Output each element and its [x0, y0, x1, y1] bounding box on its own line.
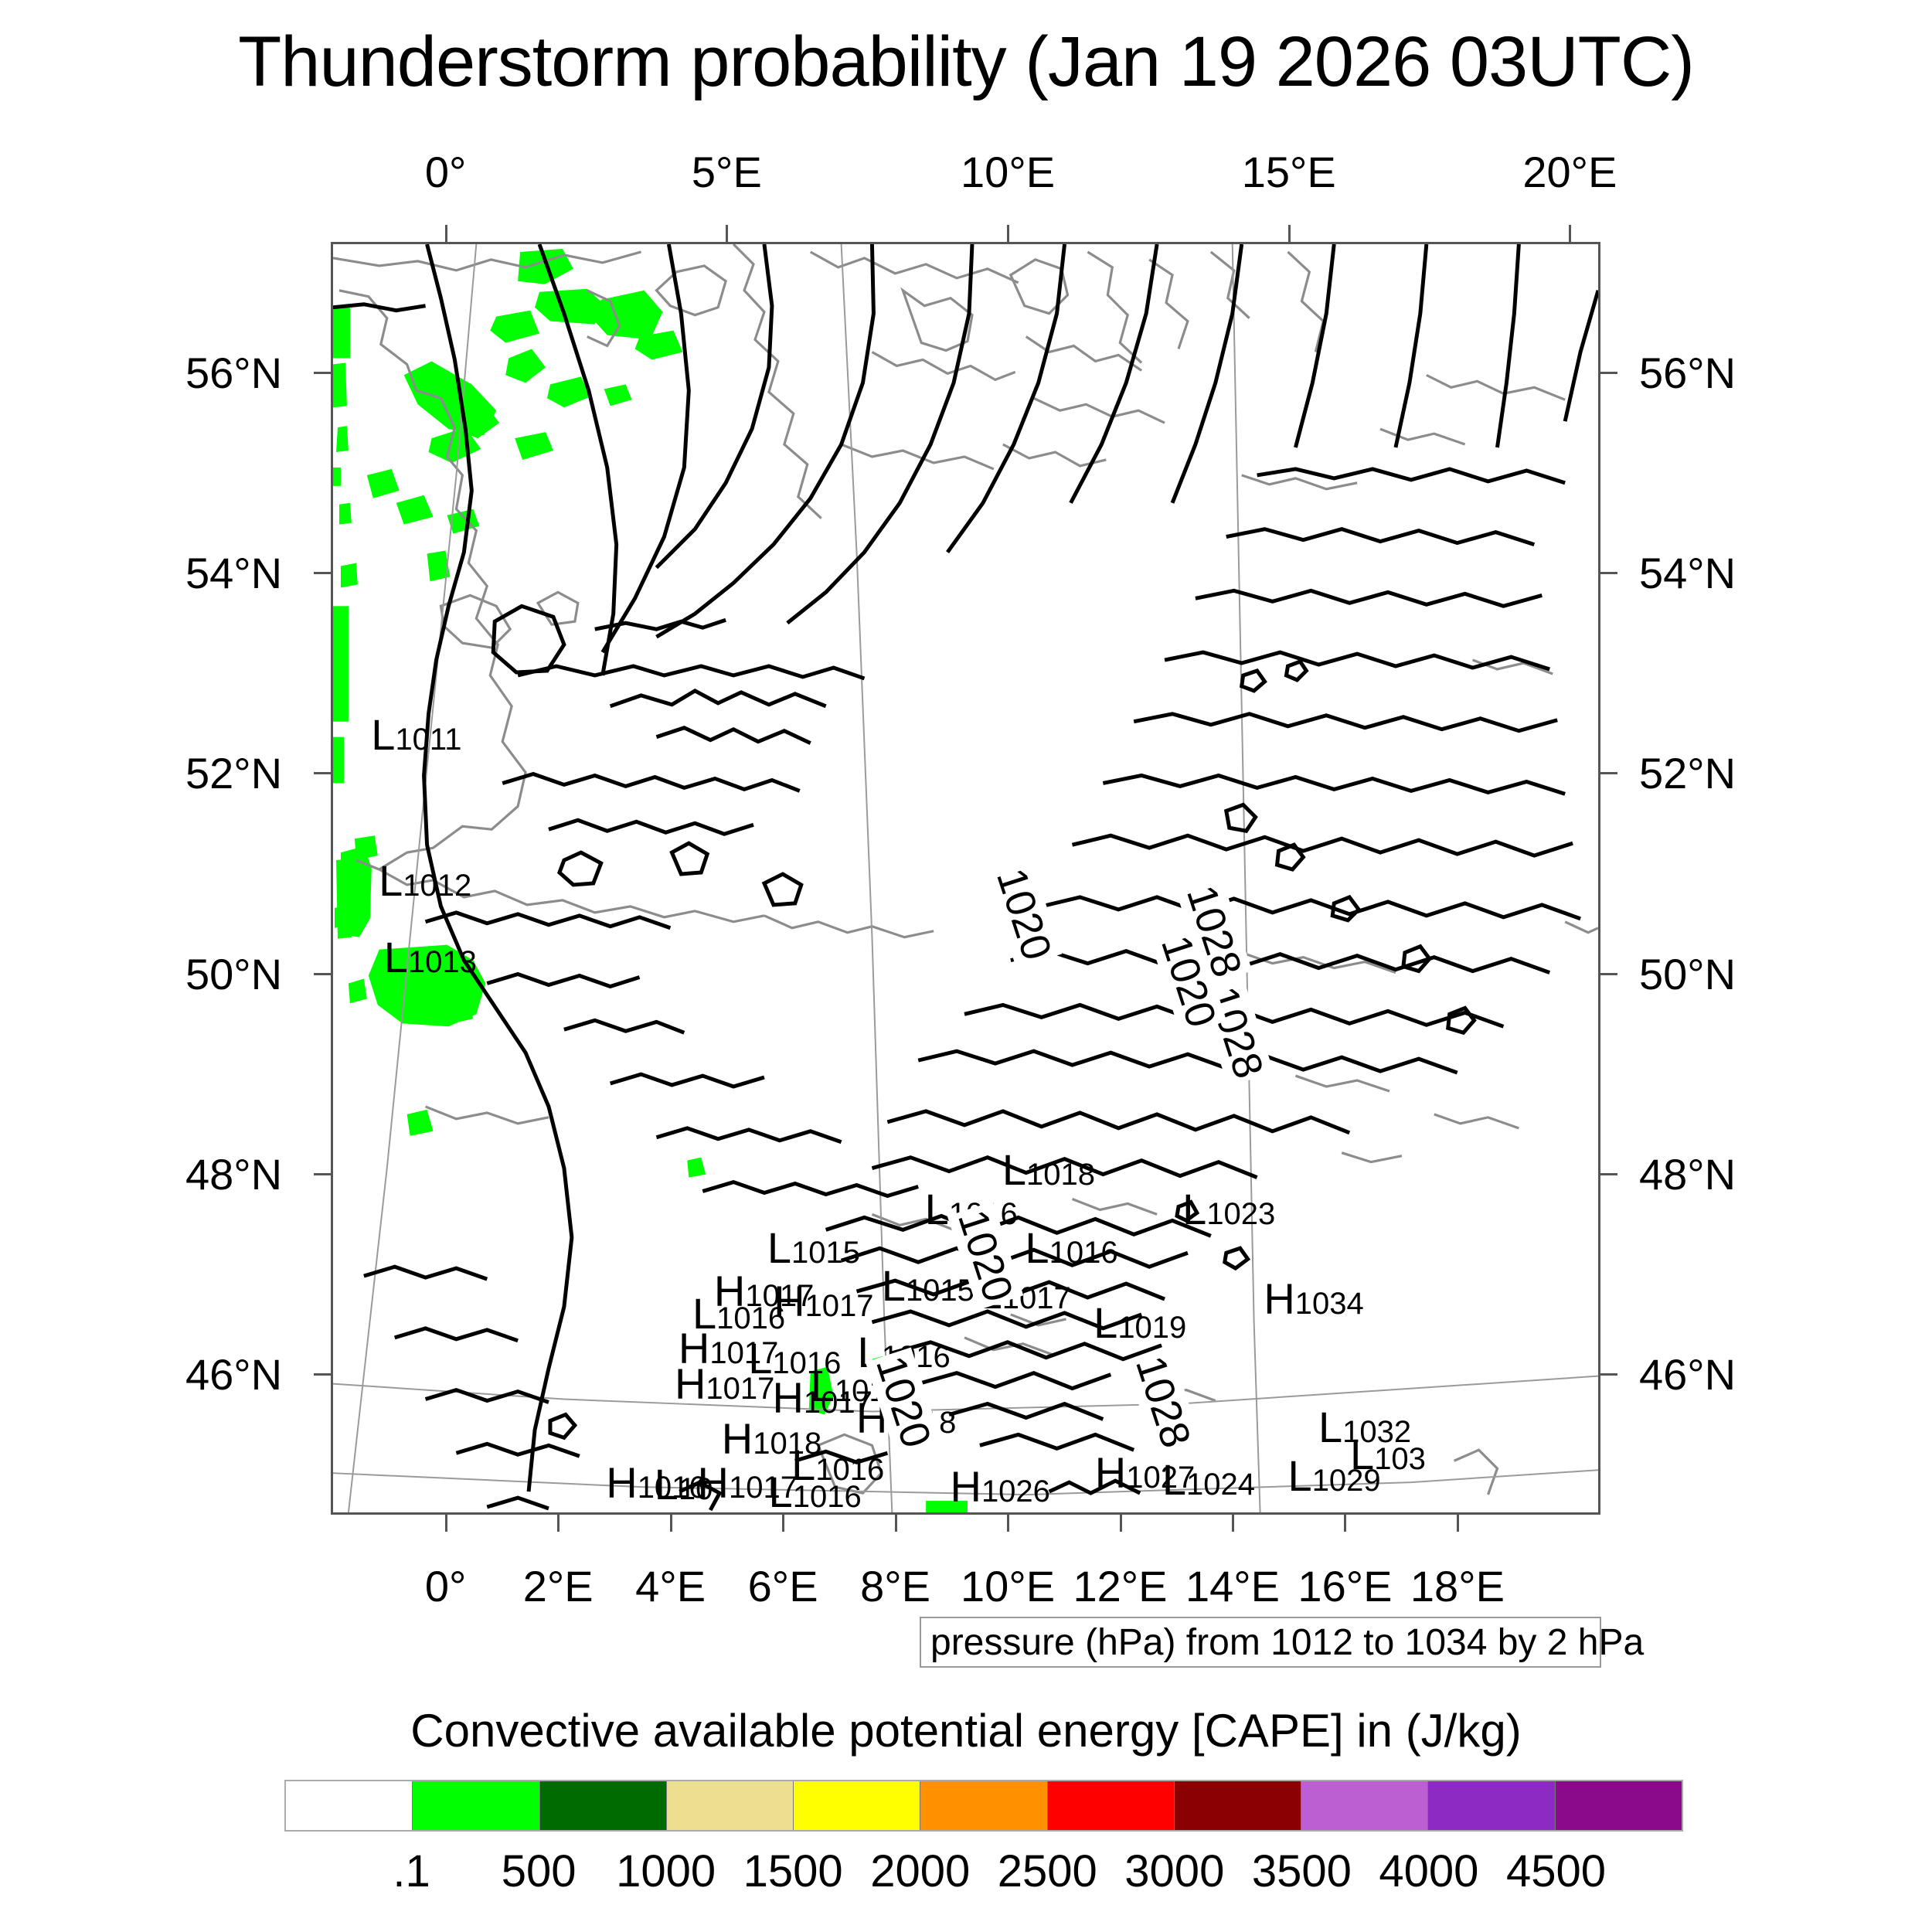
- pressure-center-l-label: L1013: [384, 936, 477, 979]
- axis-left-tick: [314, 372, 331, 374]
- pressure-legend-box: pressure (hPa) from 1012 to 1034 by 2 hP…: [920, 1617, 1601, 1668]
- axis-right-tick-label: 50°N: [1639, 949, 1736, 999]
- axis-right-tick: [1600, 772, 1617, 774]
- colorbar-segment: [1427, 1781, 1554, 1830]
- pressure-legend-text: pressure (hPa) from 1012 to 1034 by 2 hP…: [930, 1621, 1644, 1664]
- colorbar-segment: [920, 1781, 1046, 1830]
- axis-left-tick-label: 48°N: [185, 1149, 282, 1199]
- axis-top-tick-label: 5°E: [692, 147, 762, 197]
- axis-bottom-tick: [782, 1515, 784, 1532]
- axis-top-tick: [1569, 225, 1571, 242]
- axis-top-tick-label: 0°: [425, 147, 467, 197]
- axis-bottom-tick-label: 16°E: [1298, 1561, 1392, 1611]
- axis-left-tick: [314, 1373, 331, 1376]
- pressure-center-h-label: H1034: [1264, 1277, 1363, 1321]
- axis-right-tick-label: 54°N: [1639, 548, 1736, 598]
- pressure-center-l-label: L1029: [1288, 1454, 1381, 1498]
- axis-top-tick-label: 15°E: [1242, 147, 1336, 197]
- axis-right-tick-label: 56°N: [1639, 348, 1736, 398]
- axis-bottom-tick-label: 4°E: [635, 1561, 706, 1611]
- colorbar-tick-label: 4500: [1506, 1845, 1606, 1897]
- axis-bottom-tick: [895, 1515, 897, 1532]
- axis-bottom-tick: [1232, 1515, 1234, 1532]
- colorbar-segment: [1174, 1781, 1301, 1830]
- pressure-center-h-label: H1017: [675, 1362, 774, 1406]
- axis-right-tick: [1600, 372, 1617, 374]
- axis-bottom-tick-label: 2°E: [523, 1561, 594, 1611]
- graticule-layer: [333, 244, 1598, 1512]
- axis-bottom-tick: [1120, 1515, 1122, 1532]
- axis-top-tick-label: 10°E: [961, 147, 1055, 197]
- axis-top-tick: [1007, 225, 1009, 242]
- axis-bottom-tick-label: 10°E: [961, 1561, 1055, 1611]
- colorbar-tick-label: 2000: [870, 1845, 970, 1897]
- axis-left-tick-label: 46°N: [185, 1349, 282, 1400]
- axis-right-tick: [1600, 572, 1617, 574]
- colorbar-segment: [1555, 1781, 1682, 1830]
- axis-left-tick: [314, 772, 331, 774]
- axis-bottom-tick-label: 0°: [425, 1561, 467, 1611]
- axis-right-tick: [1600, 973, 1617, 975]
- map-canvas: [333, 244, 1598, 1512]
- pressure-center-l-label: L1016: [1025, 1226, 1117, 1270]
- colorbar-tick-label: .1: [393, 1845, 430, 1897]
- axis-top-tick: [726, 225, 728, 242]
- axis-right-tick-label: 48°N: [1639, 1149, 1736, 1199]
- map-plot-area: L1011L1012L1013L1018L1016L1016L1023L1015…: [331, 242, 1600, 1515]
- axis-bottom-tick: [445, 1515, 447, 1532]
- colorbar-tick-label: 1500: [743, 1845, 843, 1897]
- pressure-center-l-label: L1016: [769, 1471, 862, 1514]
- axis-bottom-tick-label: 8°E: [860, 1561, 930, 1611]
- axis-top-tick: [1288, 225, 1291, 242]
- colorbar-segment: [793, 1781, 920, 1830]
- axis-left-tick: [314, 572, 331, 574]
- axis-right-tick: [1600, 1373, 1617, 1376]
- axis-bottom-tick-label: 14°E: [1185, 1561, 1280, 1611]
- pressure-center-l-label: L1012: [379, 859, 471, 903]
- colorbar-title: Convective available potential energy [C…: [0, 1704, 1932, 1757]
- axis-left-tick-label: 50°N: [185, 949, 282, 999]
- colorbar-segment: [412, 1781, 539, 1830]
- axis-bottom-tick-label: 18°E: [1410, 1561, 1505, 1611]
- axis-left-tick-label: 54°N: [185, 548, 282, 598]
- pressure-center-l-label: L1015: [882, 1264, 975, 1308]
- axis-bottom-tick: [1457, 1515, 1459, 1532]
- axis-top-tick: [445, 225, 447, 242]
- colorbar-tick-label: 3000: [1124, 1845, 1224, 1897]
- axis-right-tick: [1600, 1173, 1617, 1175]
- axis-left-tick-label: 52°N: [185, 748, 282, 798]
- colorbar-segment: [539, 1781, 666, 1830]
- colorbar-tick-label: 500: [502, 1845, 577, 1897]
- pressure-center-l-label: L1018: [1002, 1148, 1095, 1192]
- axis-right-tick-label: 46°N: [1639, 1349, 1736, 1400]
- axis-bottom-tick: [557, 1515, 560, 1532]
- axis-left-tick: [314, 1173, 331, 1175]
- colorbar-tick-label: 3500: [1252, 1845, 1352, 1897]
- pressure-center-l-label: L1024: [1162, 1458, 1255, 1502]
- colorbar-segment: [1047, 1781, 1174, 1830]
- axis-top-tick-label: 20°E: [1522, 147, 1617, 197]
- pressure-center-h-label: H1017: [774, 1280, 873, 1323]
- colorbar-tick-label: 2500: [998, 1845, 1097, 1897]
- colorbar-tick-label: 4000: [1379, 1845, 1478, 1897]
- pressure-center-l-label: L1011: [371, 713, 461, 757]
- pressure-center-l-label: L1015: [767, 1226, 860, 1270]
- colorbar: [284, 1780, 1683, 1832]
- colorbar-tick-labels: .150010001500200025003000350040004500: [284, 1845, 1683, 1900]
- page-title: Thunderstorm probability (Jan 19 2026 03…: [0, 22, 1932, 103]
- axis-left-tick-label: 56°N: [185, 348, 282, 398]
- axis-right-tick-label: 52°N: [1639, 748, 1736, 798]
- colorbar-tick-label: 1000: [616, 1845, 716, 1897]
- pressure-center-l-label: L1023: [1182, 1188, 1275, 1231]
- colorbar-segment: [666, 1781, 793, 1830]
- isobar-layer: [333, 244, 1598, 1510]
- pressure-center-l-label: L1019: [1094, 1301, 1186, 1345]
- axis-bottom-tick-label: 12°E: [1073, 1561, 1167, 1611]
- axis-left-tick: [314, 973, 331, 975]
- colorbar-segment: [1301, 1781, 1427, 1830]
- colorbar-segment: [286, 1781, 412, 1830]
- axis-bottom-tick: [1007, 1515, 1009, 1532]
- pressure-center-h-label: H1026: [950, 1465, 1049, 1509]
- axis-bottom-tick-label: 6°E: [748, 1561, 818, 1611]
- axis-bottom-tick: [1344, 1515, 1346, 1532]
- axis-bottom-tick: [670, 1515, 672, 1532]
